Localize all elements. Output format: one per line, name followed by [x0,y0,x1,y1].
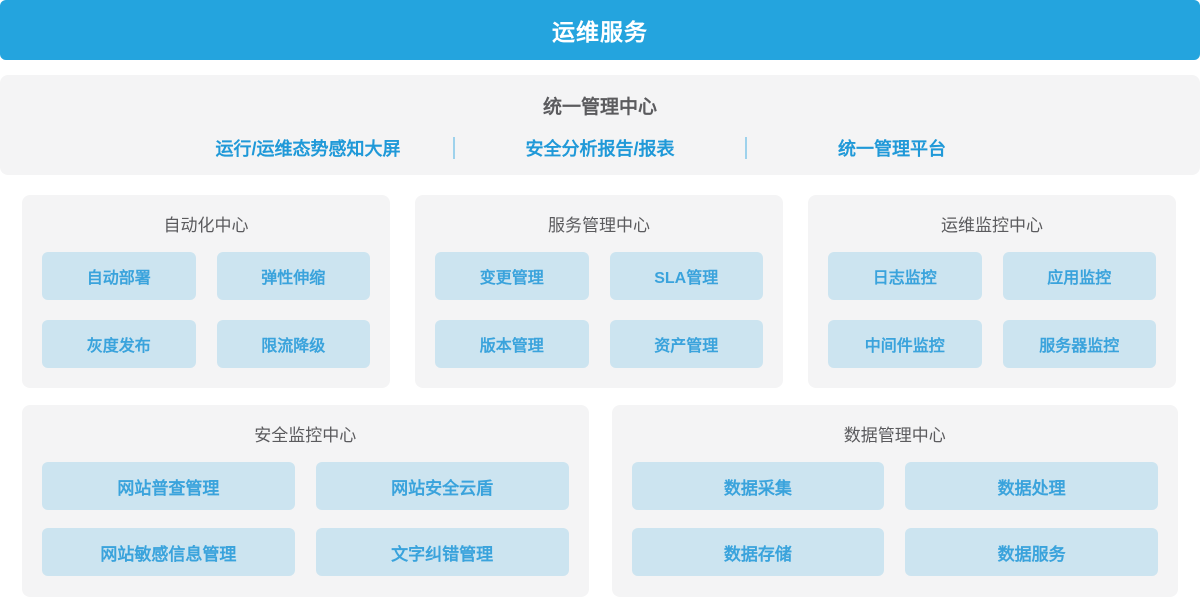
card-security-monitoring-center: 安全监控中心 网站普查管理 网站安全云盾 网站敏感信息管理 文字纠错管理 [22,405,589,597]
management-center-links: 运行/运维态势感知大屏 安全分析报告/报表 统一管理平台 [0,135,1200,161]
tile-website-security-cloud-shield[interactable]: 网站安全云盾 [316,462,569,510]
tile-grid: 数据采集 数据处理 数据存储 数据服务 [632,462,1159,576]
header-bar: 运维服务 [0,0,1200,60]
card-automation-center: 自动化中心 自动部署 弹性伸缩 灰度发布 限流降级 [22,195,390,388]
card-title: 服务管理中心 [548,211,650,236]
diagram-root: 运维服务 统一管理中心 运行/运维态势感知大屏 安全分析报告/报表 统一管理平台… [0,0,1200,602]
card-title: 安全监控中心 [254,421,356,446]
tile-elastic-scaling[interactable]: 弹性伸缩 [217,252,371,300]
management-link-security-report[interactable]: 安全分析报告/报表 [455,135,745,161]
middle-card-row: 自动化中心 自动部署 弹性伸缩 灰度发布 限流降级 服务管理中心 变更管理 SL… [22,195,1178,388]
card-title: 运维监控中心 [941,211,1043,236]
tile-log-monitoring[interactable]: 日志监控 [828,252,982,300]
tile-data-processing[interactable]: 数据处理 [905,462,1158,510]
tile-asset-management[interactable]: 资产管理 [610,320,764,368]
tile-auto-deploy[interactable]: 自动部署 [42,252,196,300]
tile-middleware-monitoring[interactable]: 中间件监控 [828,320,982,368]
tile-website-sensitive-info-management[interactable]: 网站敏感信息管理 [42,528,295,576]
tile-text-correction-management[interactable]: 文字纠错管理 [316,528,569,576]
tile-data-collection[interactable]: 数据采集 [632,462,885,510]
management-center-title: 统一管理中心 [543,92,657,119]
management-center-panel: 统一管理中心 运行/运维态势感知大屏 安全分析报告/报表 统一管理平台 [0,75,1200,175]
tile-version-management[interactable]: 版本管理 [435,320,589,368]
page-title: 运维服务 [552,13,648,47]
tile-website-census-management[interactable]: 网站普查管理 [42,462,295,510]
tile-rate-limit-degrade[interactable]: 限流降级 [217,320,371,368]
tile-grid: 网站普查管理 网站安全云盾 网站敏感信息管理 文字纠错管理 [42,462,569,576]
card-data-management-center: 数据管理中心 数据采集 数据处理 数据存储 数据服务 [612,405,1179,597]
tile-gray-release[interactable]: 灰度发布 [42,320,196,368]
tile-grid: 自动部署 弹性伸缩 灰度发布 限流降级 [42,252,370,368]
management-link-unified-platform[interactable]: 统一管理平台 [747,135,1037,161]
tile-sla-management[interactable]: SLA管理 [610,252,764,300]
card-title: 数据管理中心 [844,421,946,446]
management-link-situation-screen[interactable]: 运行/运维态势感知大屏 [163,135,453,161]
tile-data-storage[interactable]: 数据存储 [632,528,885,576]
tile-data-service[interactable]: 数据服务 [905,528,1158,576]
tile-application-monitoring[interactable]: 应用监控 [1003,252,1157,300]
card-title: 自动化中心 [164,211,249,236]
bottom-card-row: 安全监控中心 网站普查管理 网站安全云盾 网站敏感信息管理 文字纠错管理 数据管… [22,405,1178,597]
card-service-management-center: 服务管理中心 变更管理 SLA管理 版本管理 资产管理 [415,195,783,388]
tile-grid: 变更管理 SLA管理 版本管理 资产管理 [435,252,763,368]
tile-change-management[interactable]: 变更管理 [435,252,589,300]
tile-grid: 日志监控 应用监控 中间件监控 服务器监控 [828,252,1156,368]
card-ops-monitoring-center: 运维监控中心 日志监控 应用监控 中间件监控 服务器监控 [808,195,1176,388]
tile-server-monitoring[interactable]: 服务器监控 [1003,320,1157,368]
